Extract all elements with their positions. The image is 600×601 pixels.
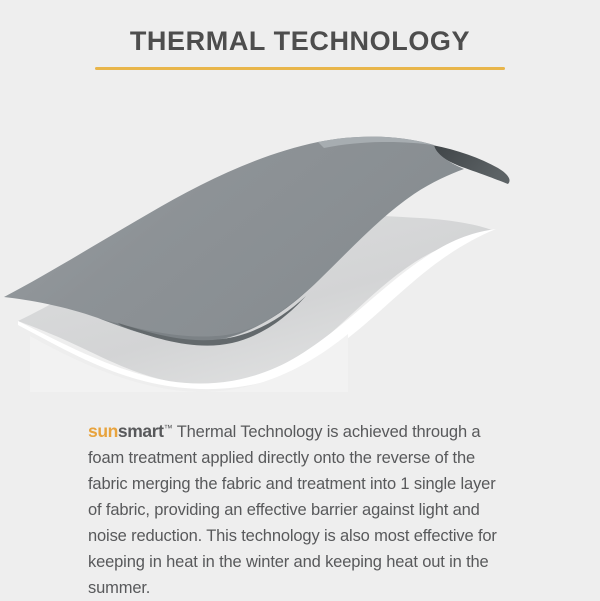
body-paragraph-text: Thermal Technology is achieved through a… [88,423,497,597]
body-paragraph: sunsmart™ Thermal Technology is achieved… [88,415,512,601]
trademark-icon: ™ [164,423,173,433]
header: THERMAL TECHNOLOGY [0,24,600,58]
thermal-technology-panel: THERMAL TECHNOLOGY [0,0,600,600]
fabric-layers-illustration [0,96,600,392]
brand-sun-text: sun [88,421,118,441]
brand-smart-text: smart [118,421,164,441]
page-title: THERMAL TECHNOLOGY [0,24,600,58]
sunsmart-logo: sunsmart™ [88,423,173,441]
title-underline-rule [95,67,505,70]
